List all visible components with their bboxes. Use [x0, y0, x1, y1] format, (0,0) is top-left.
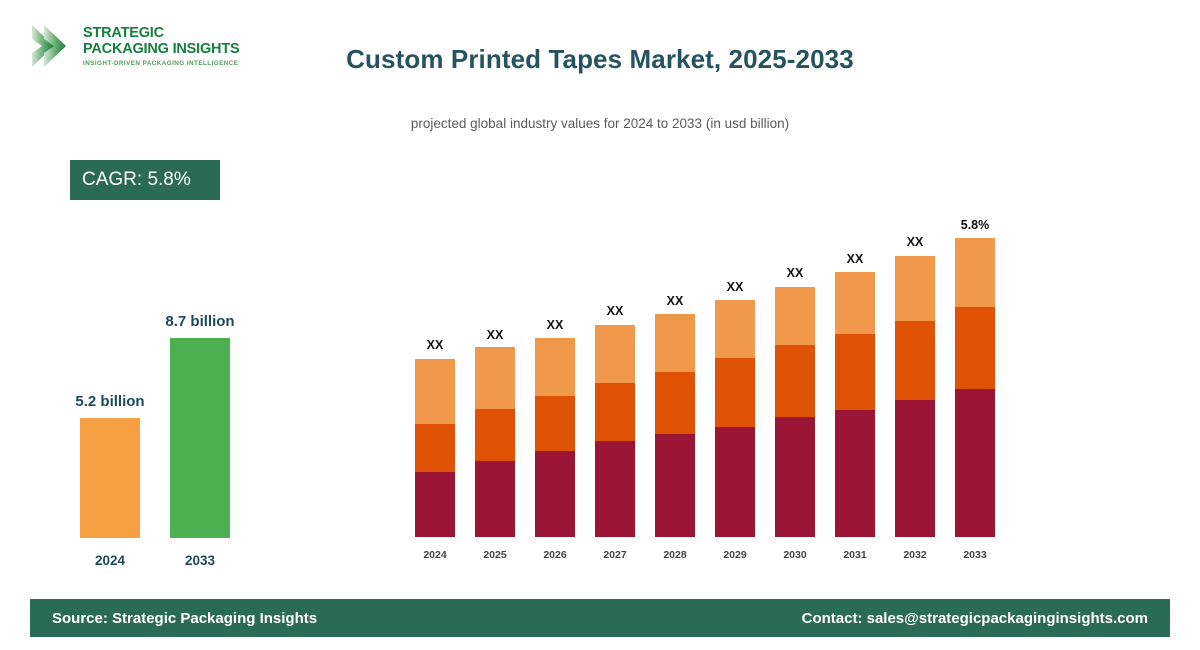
stacked-bar-column: XX2024: [415, 238, 455, 537]
stacked-bar: [655, 314, 695, 537]
stacked-bar-segment: [775, 345, 815, 417]
stacked-bar-segment: [895, 256, 935, 321]
stacked-bar-segment: [655, 434, 695, 537]
stacked-bar: [835, 272, 875, 537]
comparison-bar-chart: 5.2 billion20248.7 billion2033: [40, 230, 320, 570]
stacked-bar-column: XX2029: [715, 238, 755, 537]
page-subtitle: projected global industry values for 202…: [0, 116, 1200, 131]
stacked-bar-segment: [415, 472, 455, 537]
stacked-bar-column: XX2027: [595, 238, 635, 537]
stacked-bar-year-label: 2025: [475, 549, 515, 561]
stacked-bar-column: XX2031: [835, 238, 875, 537]
stacked-bar-segment: [775, 417, 815, 537]
comparison-bar-value: 5.2 billion: [30, 393, 190, 410]
stacked-bar-year-label: 2030: [775, 549, 815, 561]
comparison-bar: [80, 418, 140, 538]
stacked-bar-year-label: 2033: [955, 549, 995, 561]
stacked-bar-value-label: XX: [750, 266, 840, 280]
stacked-bar-segment: [475, 461, 515, 537]
stacked-bar-column: XX2026: [535, 238, 575, 537]
cagr-badge-label: CAGR: 5.8%: [82, 169, 191, 191]
stacked-bar-value-label: XX: [630, 294, 720, 308]
stacked-bar-column: XX2030: [775, 238, 815, 537]
comparison-bar: [170, 338, 230, 538]
stacked-bar-segment: [955, 307, 995, 389]
stacked-bar-column: XX2025: [475, 238, 515, 537]
stacked-bar-segment: [475, 347, 515, 409]
footer-contact: Contact: sales@strategicpackaginginsight…: [802, 610, 1148, 627]
stacked-bar-year-label: 2027: [595, 549, 635, 561]
stacked-bar-value-label: XX: [870, 235, 960, 249]
stacked-bar: [715, 300, 755, 537]
footer-source: Source: Strategic Packaging Insights: [52, 610, 317, 627]
stacked-bar-segment: [715, 358, 755, 427]
stacked-bar-column: XX2028: [655, 238, 695, 537]
page-title: Custom Printed Tapes Market, 2025-2033: [0, 44, 1200, 75]
stacked-bar-value-label: XX: [810, 252, 900, 266]
stacked-bar-segment: [535, 338, 575, 396]
brand-name-line1: STRATEGIC: [83, 25, 239, 41]
stacked-bar-year-label: 2032: [895, 549, 935, 561]
stacked-bar-segment: [955, 238, 995, 307]
stacked-bar-segment: [655, 314, 695, 372]
comparison-bar-column: 5.2 billion2024: [80, 338, 140, 538]
comparison-bar-year-label: 2024: [80, 553, 140, 568]
stacked-bar-value-label: XX: [510, 318, 600, 332]
stacked-bar-segment: [535, 451, 575, 537]
stacked-bar-segment: [535, 396, 575, 451]
stacked-bar-value-label: 5.8%: [930, 218, 1020, 232]
stacked-bar: [415, 359, 455, 537]
cagr-badge: CAGR: 5.8%: [70, 160, 220, 200]
stacked-bar: [535, 338, 575, 537]
stacked-bar-segment: [955, 389, 995, 537]
comparison-bar-year-label: 2033: [170, 553, 230, 568]
stacked-bar: [775, 287, 815, 537]
stacked-bar-chart: XX2024XX2025XX2026XX2027XX2028XX2029XX20…: [405, 200, 1025, 575]
stacked-bar-year-label: 2028: [655, 549, 695, 561]
stacked-bar-segment: [415, 359, 455, 424]
stacked-bar-year-label: 2031: [835, 549, 875, 561]
stacked-bar-segment: [895, 321, 935, 400]
stacked-bar-segment: [835, 334, 875, 410]
comparison-bar-value: 8.7 billion: [120, 313, 280, 330]
stacked-bar-segment: [475, 409, 515, 461]
comparison-bar-column: 8.7 billion2033: [170, 338, 230, 538]
stacked-bar-segment: [775, 287, 815, 345]
stacked-bar-segment: [835, 272, 875, 334]
stacked-bar: [475, 347, 515, 537]
stacked-bar-year-label: 2026: [535, 549, 575, 561]
stacked-bar-segment: [655, 372, 695, 434]
stacked-bar-segment: [715, 427, 755, 537]
stacked-bar-segment: [595, 383, 635, 441]
stacked-bar-year-label: 2024: [415, 549, 455, 561]
stacked-bar-segment: [835, 410, 875, 537]
stacked-bar: [595, 325, 635, 537]
footer-bar: Source: Strategic Packaging Insights Con…: [30, 599, 1170, 637]
stacked-bar-year-label: 2029: [715, 549, 755, 561]
stacked-bar-segment: [415, 424, 455, 472]
stacked-bar-segment: [595, 325, 635, 383]
stacked-bar-value-label: XX: [690, 280, 780, 294]
stacked-bar-column: XX2032: [895, 238, 935, 537]
stacked-bar: [895, 256, 935, 537]
stacked-bar: [955, 238, 995, 537]
stacked-bar-segment: [595, 441, 635, 537]
stacked-bar-segment: [895, 400, 935, 537]
stacked-bar-column: 5.8%2033: [955, 238, 995, 537]
stacked-bar-segment: [715, 300, 755, 358]
